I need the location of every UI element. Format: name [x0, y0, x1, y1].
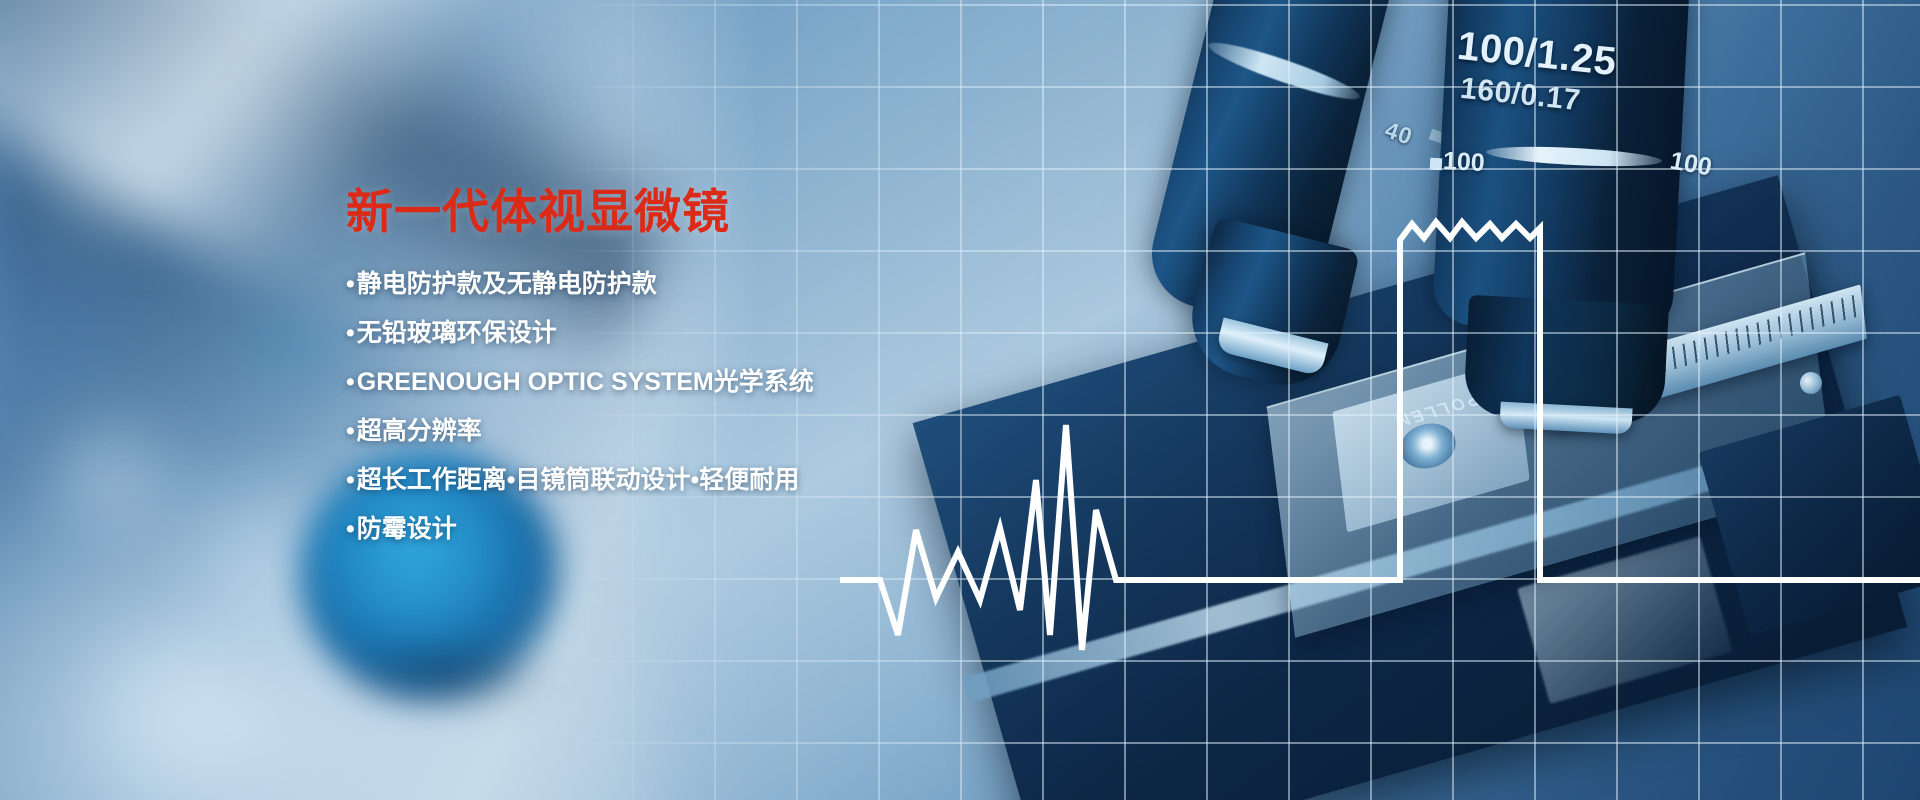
- bullet-marker-icon: •: [346, 466, 355, 494]
- list-item-label: 无铅玻璃环保设计: [357, 319, 557, 347]
- feature-list: •静电防护款及无静电防护款 •无铅玻璃环保设计 •GREENOUGH OPTIC…: [346, 272, 966, 542]
- product-banner: POLLEN 40 100/1.25 160/0.17 100 100 新一代体…: [0, 0, 1920, 800]
- list-item-label: 防霉设计: [357, 515, 457, 543]
- bullet-marker-icon: •: [346, 515, 355, 543]
- bullet-marker-icon: •: [346, 368, 355, 396]
- list-item-label: GREENOUGH OPTIC SYSTEM光学系统: [357, 368, 814, 396]
- list-item: •GREENOUGH OPTIC SYSTEM光学系统: [346, 370, 966, 395]
- list-item: •超长工作距离•目镜筒联动设计•轻便耐用: [346, 468, 966, 493]
- list-item: •无铅玻璃环保设计: [346, 321, 966, 346]
- sphere-shadow: [330, 640, 560, 710]
- list-item-label: 超长工作距离•目镜筒联动设计•轻便耐用: [357, 466, 800, 494]
- banner-copy: 新一代体视显微镜 •静电防护款及无静电防护款 •无铅玻璃环保设计 •GREENO…: [346, 186, 966, 566]
- bullet-marker-icon: •: [346, 319, 355, 347]
- list-item-label: 静电防护款及无静电防护款: [357, 270, 657, 298]
- list-item: •静电防护款及无静电防护款: [346, 272, 966, 297]
- list-item: •防霉设计: [346, 517, 966, 542]
- bullet-marker-icon: •: [346, 270, 355, 298]
- bullet-marker-icon: •: [346, 417, 355, 445]
- page-title: 新一代体视显微镜: [346, 186, 966, 238]
- list-item-label: 超高分辨率: [357, 417, 482, 445]
- list-item: •超高分辨率: [346, 419, 966, 444]
